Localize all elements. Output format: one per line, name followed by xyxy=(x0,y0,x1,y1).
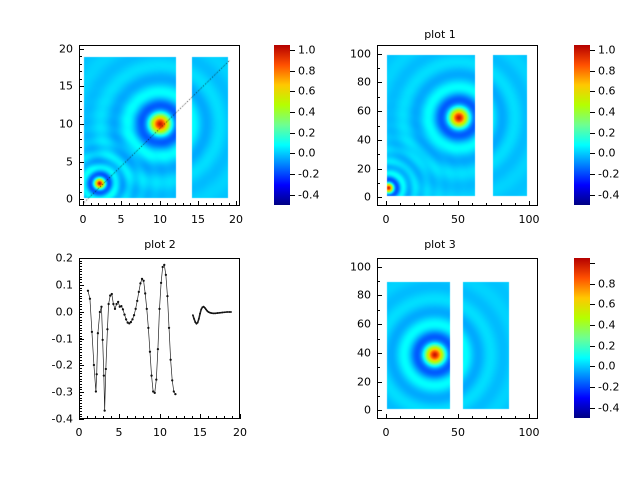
colorbar-tick xyxy=(590,133,595,134)
plot1-colorbar-gradient xyxy=(574,45,590,205)
y-tick-label: 40 xyxy=(337,134,371,147)
tick-mark xyxy=(144,203,145,206)
tick-mark xyxy=(79,304,82,305)
data-point-marker xyxy=(115,303,117,305)
colorbar-tick xyxy=(290,195,295,196)
tick-mark xyxy=(200,414,201,419)
tick-mark xyxy=(79,371,82,372)
tick-mark xyxy=(79,400,82,401)
colorbar-tick xyxy=(290,153,295,154)
tick-mark xyxy=(414,203,415,206)
data-point-marker xyxy=(168,327,170,329)
plot3-colorbar-gradient xyxy=(574,258,590,418)
tick-mark xyxy=(79,277,82,278)
x-tick-label: 5 xyxy=(118,213,125,226)
y-tick-label: 100 xyxy=(337,261,371,274)
tick-mark xyxy=(224,416,225,419)
data-point-marker xyxy=(210,312,212,314)
heatmap-image xyxy=(378,46,537,205)
data-point-marker xyxy=(125,318,127,320)
data-point-marker xyxy=(197,322,199,324)
data-point-marker xyxy=(163,264,165,266)
data-point-marker xyxy=(96,373,98,375)
tick-mark xyxy=(79,258,84,259)
tick-mark xyxy=(198,201,199,206)
tick-mark xyxy=(79,271,82,272)
x-tick-label: 15 xyxy=(193,426,207,439)
tick-mark xyxy=(79,403,82,404)
tick-mark xyxy=(184,416,185,419)
panel-plot1: plot 1 050100020406080100 -0.4-0.20.00.2… xyxy=(320,0,640,240)
tick-mark xyxy=(377,382,382,383)
tick-mark xyxy=(529,201,530,206)
tick-mark xyxy=(377,82,382,83)
tick-mark xyxy=(143,416,144,419)
data-point-marker xyxy=(226,311,228,313)
colorbar-tick-label: 0.2 xyxy=(598,340,616,353)
data-point-marker xyxy=(91,331,93,333)
tick-mark xyxy=(472,416,473,419)
line-path xyxy=(193,307,231,324)
tick-mark xyxy=(221,203,222,206)
colorbar-tick-label: 1.0 xyxy=(598,44,616,57)
tick-mark xyxy=(79,71,82,72)
tick-mark xyxy=(103,416,104,419)
y-tick-label: -0.1 xyxy=(39,333,73,346)
colorbar-tick xyxy=(290,112,295,113)
colorbar-tick-label: 0.0 xyxy=(298,147,316,160)
x-tick-label: 10 xyxy=(153,213,167,226)
y-tick-label: 15 xyxy=(39,80,73,93)
tick-mark xyxy=(414,416,415,419)
panel-plot0: 0510152005101520 -0.4-0.20.00.20.40.60.8… xyxy=(0,0,320,240)
tick-mark xyxy=(79,336,82,337)
data-point-marker xyxy=(173,390,175,392)
colorbar-tick xyxy=(590,112,595,113)
data-point-marker xyxy=(174,393,176,395)
tick-mark xyxy=(79,309,82,310)
data-point-marker xyxy=(224,311,226,313)
tick-mark xyxy=(229,203,230,206)
data-point-marker xyxy=(97,332,99,334)
tick-mark xyxy=(208,416,209,419)
tick-mark xyxy=(79,357,82,358)
plot3-axes xyxy=(377,258,538,419)
tick-mark xyxy=(79,322,82,323)
tick-mark xyxy=(79,199,84,200)
tick-mark xyxy=(79,301,82,302)
tick-mark xyxy=(79,56,82,57)
tick-mark xyxy=(377,183,380,184)
tick-mark xyxy=(377,295,382,296)
data-point-marker xyxy=(130,321,132,323)
tick-mark xyxy=(377,111,382,112)
tick-mark xyxy=(377,169,382,170)
tick-mark xyxy=(79,376,82,377)
y-tick-label: 0.0 xyxy=(39,306,73,319)
tick-mark xyxy=(129,203,130,206)
data-point-marker xyxy=(100,306,102,308)
colorbar-tick-label: 0.6 xyxy=(598,298,616,311)
data-point-marker xyxy=(138,291,140,293)
data-point-marker xyxy=(87,290,89,292)
tick-mark xyxy=(127,416,128,419)
x-tick-label: 0 xyxy=(80,213,87,226)
x-tick-label: 0 xyxy=(76,426,83,439)
tick-mark xyxy=(79,373,82,374)
tick-mark xyxy=(515,416,516,419)
tick-mark xyxy=(79,266,82,267)
tick-mark xyxy=(79,285,84,286)
data-point-marker xyxy=(198,318,200,320)
tick-mark xyxy=(79,389,82,390)
data-point-marker xyxy=(219,312,221,314)
tick-mark xyxy=(377,310,380,311)
colorbar-tick xyxy=(590,153,595,154)
tick-mark xyxy=(79,184,82,185)
data-point-marker xyxy=(89,298,91,300)
y-tick-label: 100 xyxy=(337,48,371,61)
tick-mark xyxy=(79,381,82,382)
tick-mark xyxy=(79,282,82,283)
tick-mark xyxy=(377,97,380,98)
data-point-marker xyxy=(160,282,162,284)
tick-mark xyxy=(79,109,82,110)
y-tick-label: -0.4 xyxy=(39,413,73,426)
data-point-marker xyxy=(144,292,146,294)
y-tick-label: 80 xyxy=(337,76,371,89)
tick-mark xyxy=(79,79,82,80)
data-point-marker xyxy=(155,378,157,380)
y-tick-label: 20 xyxy=(39,43,73,56)
tick-mark xyxy=(386,201,387,206)
data-point-marker xyxy=(158,308,160,310)
tick-mark xyxy=(106,203,107,206)
plot0-colorbar xyxy=(274,45,290,205)
data-point-marker xyxy=(136,300,138,302)
tick-mark xyxy=(79,392,84,393)
tick-mark xyxy=(486,203,487,206)
colorbar-tick-label: 0.8 xyxy=(298,65,316,78)
y-tick-label: 0.2 xyxy=(39,252,73,265)
x-tick-label: 20 xyxy=(229,213,243,226)
data-point-marker xyxy=(205,308,207,310)
tick-mark xyxy=(79,384,82,385)
tick-mark xyxy=(79,124,84,125)
data-point-marker xyxy=(166,295,168,297)
tick-mark xyxy=(91,203,92,206)
tick-mark xyxy=(206,203,207,206)
data-point-marker xyxy=(131,318,133,320)
tick-mark xyxy=(501,203,502,206)
colorbar-tick-label: 0.8 xyxy=(598,278,616,291)
colorbar-tick xyxy=(290,71,295,72)
tick-mark xyxy=(79,169,82,170)
y-tick-label: 80 xyxy=(337,289,371,302)
tick-mark xyxy=(79,274,82,275)
tick-mark xyxy=(119,414,120,419)
tick-mark xyxy=(79,341,82,342)
tick-mark xyxy=(87,416,88,419)
tick-mark xyxy=(377,140,382,141)
heatmap-image xyxy=(80,46,239,205)
tick-mark xyxy=(377,396,380,397)
colorbar-tick xyxy=(590,366,595,367)
tick-mark xyxy=(377,267,382,268)
tick-mark xyxy=(79,132,82,133)
x-tick-label: 100 xyxy=(519,426,540,439)
colorbar-tick-label: 0.6 xyxy=(298,85,316,98)
colorbar-tick-label: 0.4 xyxy=(298,106,316,119)
data-point-marker xyxy=(171,379,173,381)
tick-mark xyxy=(79,325,82,326)
tick-mark xyxy=(79,333,82,334)
colorbar-tick-label: -0.4 xyxy=(598,189,619,202)
tick-mark xyxy=(95,416,96,419)
tick-mark xyxy=(213,203,214,206)
tick-mark xyxy=(377,367,380,368)
data-point-marker xyxy=(112,303,114,305)
tick-mark xyxy=(175,203,176,206)
x-tick-label: 50 xyxy=(451,426,465,439)
data-point-marker xyxy=(200,308,202,310)
data-point-marker xyxy=(194,321,196,323)
tick-mark xyxy=(79,139,82,140)
data-point-marker xyxy=(154,392,156,394)
tick-mark xyxy=(79,269,82,270)
tick-mark xyxy=(79,64,82,65)
y-tick-label: 20 xyxy=(337,376,371,389)
tick-mark xyxy=(429,203,430,206)
y-tick-label: 0.1 xyxy=(39,279,73,292)
data-point-marker xyxy=(139,282,141,284)
plot2-line-series xyxy=(80,259,239,418)
tick-mark xyxy=(377,324,382,325)
colorbar-tick-label: 0.0 xyxy=(598,147,616,160)
colorbar-tick-label: -0.2 xyxy=(598,168,619,181)
tick-mark xyxy=(501,416,502,419)
colorbar-tick-label: 0.2 xyxy=(298,127,316,140)
tick-mark xyxy=(443,416,444,419)
plot1-axes xyxy=(377,45,538,206)
tick-mark xyxy=(79,387,82,388)
data-point-marker xyxy=(221,312,223,314)
tick-mark xyxy=(79,344,82,345)
data-point-marker xyxy=(123,314,125,316)
tick-mark xyxy=(79,306,82,307)
y-tick-label: 0 xyxy=(337,191,371,204)
tick-mark xyxy=(79,398,82,399)
colorbar-tick xyxy=(590,263,595,264)
data-point-marker xyxy=(230,311,232,313)
data-point-marker xyxy=(157,348,159,350)
data-point-marker xyxy=(165,274,167,276)
tick-mark xyxy=(377,339,380,340)
y-tick-label: -0.2 xyxy=(39,359,73,372)
tick-mark xyxy=(79,49,84,50)
tick-mark xyxy=(135,416,136,419)
tick-mark xyxy=(216,416,217,419)
tick-mark xyxy=(79,347,82,348)
tick-mark xyxy=(377,197,382,198)
data-point-marker xyxy=(102,339,104,341)
tick-mark xyxy=(98,203,99,206)
heatmap-image xyxy=(378,259,537,418)
data-point-marker xyxy=(122,308,124,310)
colorbar-tick-label: -0.4 xyxy=(298,189,319,202)
y-tick-label: 40 xyxy=(337,347,371,360)
tick-mark xyxy=(79,419,84,420)
data-point-marker xyxy=(149,351,151,353)
tick-mark xyxy=(79,288,82,289)
tick-mark xyxy=(192,416,193,419)
tick-mark xyxy=(114,203,115,206)
colorbar-tick-label: -0.4 xyxy=(598,402,619,415)
colorbar-tick xyxy=(590,325,595,326)
tick-mark xyxy=(79,290,82,291)
plot2-axes xyxy=(79,258,240,419)
colorbar-tick xyxy=(590,387,595,388)
colorbar-tick xyxy=(290,174,295,175)
colorbar-tick xyxy=(590,50,595,51)
data-point-marker xyxy=(104,409,106,411)
colorbar-tick-label: 0.4 xyxy=(598,319,616,332)
tick-mark xyxy=(377,410,382,411)
tick-mark xyxy=(240,414,241,419)
tick-mark xyxy=(137,203,138,206)
data-point-marker xyxy=(142,280,144,282)
tick-mark xyxy=(79,355,82,356)
tick-mark xyxy=(151,416,152,419)
tick-mark xyxy=(79,314,82,315)
data-point-marker xyxy=(204,307,206,309)
tick-mark xyxy=(79,154,82,155)
data-point-marker xyxy=(95,390,97,392)
data-point-marker xyxy=(106,328,108,330)
colorbar-tick xyxy=(590,174,595,175)
plot0-axes xyxy=(79,45,240,206)
colorbar-tick xyxy=(590,408,595,409)
data-point-marker xyxy=(214,312,216,314)
data-point-marker xyxy=(141,278,143,280)
tick-mark xyxy=(121,201,122,206)
plot3-colorbar xyxy=(574,258,590,418)
data-point-marker xyxy=(209,312,211,314)
tick-mark xyxy=(79,411,82,412)
tick-mark xyxy=(152,203,153,206)
tick-mark xyxy=(79,395,82,396)
tick-mark xyxy=(79,312,84,313)
figure-canvas: 0510152005101520 -0.4-0.20.00.20.40.60.8… xyxy=(0,0,640,480)
tick-mark xyxy=(79,177,82,178)
tick-mark xyxy=(79,86,84,87)
data-point-marker xyxy=(162,266,164,268)
data-point-marker xyxy=(133,314,135,316)
tick-mark xyxy=(232,416,233,419)
tick-mark xyxy=(176,416,177,419)
data-point-marker xyxy=(99,311,101,313)
data-point-marker xyxy=(135,308,137,310)
y-tick-label: 60 xyxy=(337,105,371,118)
data-point-marker xyxy=(229,311,231,313)
tick-mark xyxy=(400,416,401,419)
tick-mark xyxy=(168,416,169,419)
tick-mark xyxy=(79,296,82,297)
x-tick-label: 20 xyxy=(233,426,247,439)
tick-mark xyxy=(79,298,82,299)
tick-mark xyxy=(79,317,82,318)
tick-mark xyxy=(79,352,82,353)
tick-mark xyxy=(83,201,84,206)
plot1-title: plot 1 xyxy=(280,28,600,41)
colorbar-tick xyxy=(290,133,295,134)
tick-mark xyxy=(183,203,184,206)
data-point-marker xyxy=(212,312,214,314)
data-point-marker xyxy=(146,308,148,310)
tick-mark xyxy=(377,154,380,155)
tick-mark xyxy=(79,339,84,340)
colorbar-tick-label: 0.4 xyxy=(598,106,616,119)
colorbar-tick xyxy=(590,195,595,196)
y-tick-label: 10 xyxy=(39,118,73,131)
data-point-marker xyxy=(105,368,107,370)
tick-mark xyxy=(79,94,82,95)
tick-mark xyxy=(458,201,459,206)
plot3-title: plot 3 xyxy=(280,238,600,251)
y-tick-label: 20 xyxy=(337,163,371,176)
y-tick-label: 60 xyxy=(337,318,371,331)
data-point-marker xyxy=(147,327,149,329)
data-point-marker xyxy=(193,318,195,320)
tick-mark xyxy=(160,201,161,206)
line-path xyxy=(88,265,175,411)
y-tick-label: 5 xyxy=(39,156,73,169)
tick-mark xyxy=(443,203,444,206)
tick-mark xyxy=(79,162,84,163)
tick-mark xyxy=(486,416,487,419)
tick-mark xyxy=(79,101,82,102)
tick-mark xyxy=(79,293,82,294)
panel-plot2: plot 2 05101520-0.4-0.3-0.2-0.10.00.10.2 xyxy=(0,240,320,480)
tick-mark xyxy=(458,414,459,419)
tick-mark xyxy=(79,320,82,321)
tick-mark xyxy=(79,328,82,329)
data-point-marker xyxy=(199,313,201,315)
tick-mark xyxy=(167,203,168,206)
data-point-marker xyxy=(103,374,105,376)
data-point-marker xyxy=(117,301,119,303)
panel-plot3: plot 3 050100020406080100 -0.4-0.20.00.2… xyxy=(320,240,640,480)
data-point-marker xyxy=(107,303,109,305)
colorbar-tick-label: 0.6 xyxy=(598,85,616,98)
data-point-marker xyxy=(114,308,116,310)
tick-mark xyxy=(377,353,382,354)
data-point-marker xyxy=(93,364,95,366)
tick-mark xyxy=(377,54,382,55)
tick-mark xyxy=(377,126,380,127)
tick-mark xyxy=(79,406,82,407)
colorbar-tick xyxy=(290,50,295,51)
y-tick-label: 0 xyxy=(337,404,371,417)
colorbar-tick xyxy=(590,91,595,92)
tick-mark xyxy=(400,203,401,206)
x-tick-label: 15 xyxy=(191,213,205,226)
tick-mark xyxy=(160,414,161,419)
data-point-marker xyxy=(217,312,219,314)
x-tick-label: 0 xyxy=(383,213,390,226)
x-tick-label: 10 xyxy=(153,426,167,439)
colorbar-tick-label: 0.8 xyxy=(598,65,616,78)
